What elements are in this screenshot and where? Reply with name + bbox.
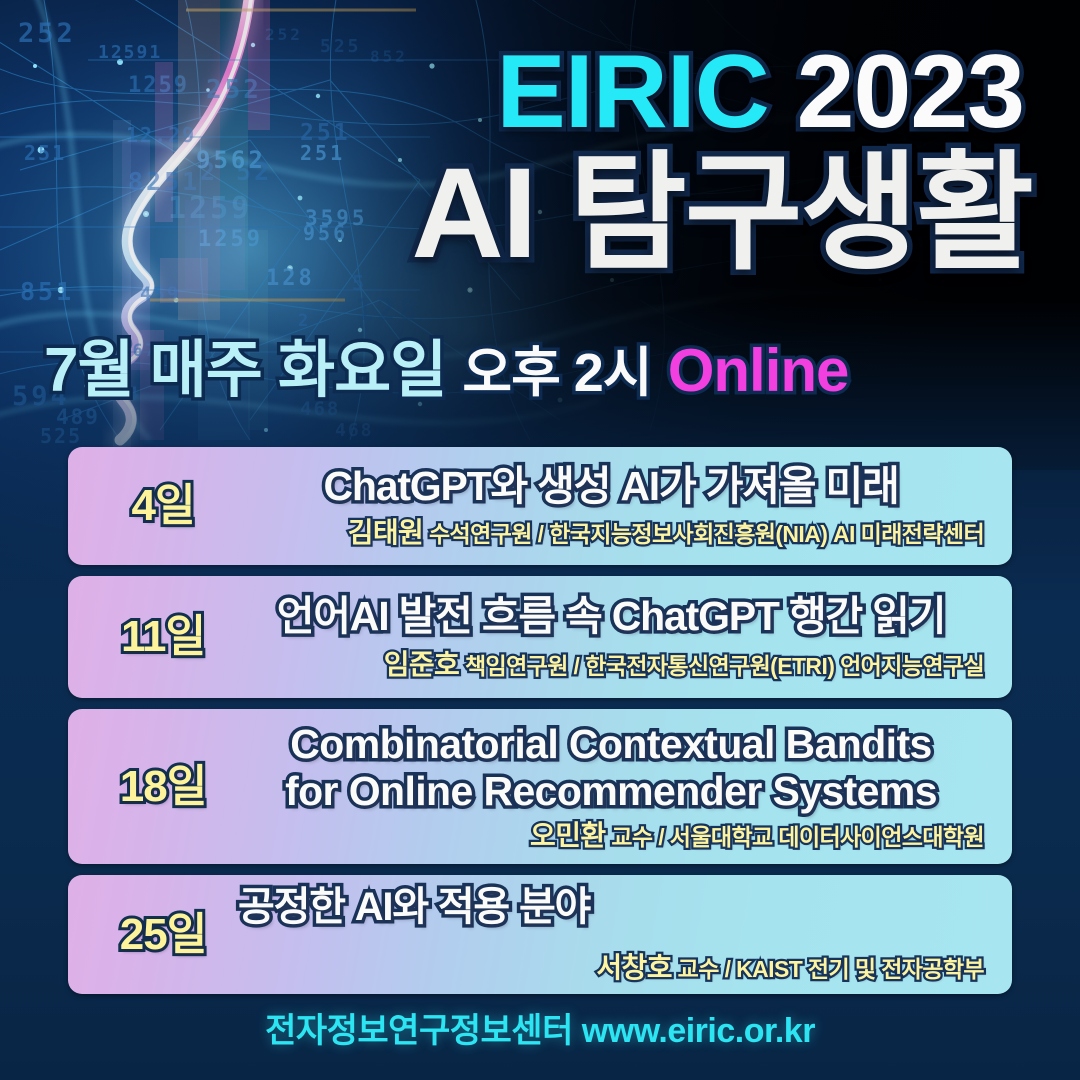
- brand-title: EIRIC 2023: [496, 40, 1024, 144]
- brand-title-year: 2023: [797, 34, 1024, 150]
- session-day-badge: 25일: [88, 913, 238, 957]
- session-title: Combinatorial Contextual Bandits for Onl…: [238, 721, 984, 814]
- session-title: ChatGPT와 생성 AI가 가져올 미래: [238, 463, 984, 510]
- session-title-line: 공정한 AI와 적용 분야: [238, 885, 984, 931]
- session-list: 4일 ChatGPT와 생성 AI가 가져올 미래 김태원 수석연구원 / 한국…: [68, 447, 1012, 1005]
- session-speaker-name: 서창호: [596, 952, 671, 983]
- session-title: 언어AI 발전 흐름 속 ChatGPT 행간 읽기: [238, 593, 984, 640]
- session-content: Combinatorial Contextual Bandits for Onl…: [238, 721, 988, 851]
- poster-root: 252 12591 1259 12.29 8251 252 2 52 251 8…: [0, 0, 1080, 1080]
- session-speaker-affiliation: 교수 / KAIST 전기 및 전자공학부: [678, 956, 984, 982]
- session-title-line: 언어AI 발전 흐름 속 ChatGPT 행간 읽기: [238, 593, 984, 640]
- session-title: 공정한 AI와 적용 분야: [238, 885, 984, 931]
- session-day-badge: 18일: [88, 765, 238, 809]
- session-speaker: 임준호 책임연구원 / 한국전자통신연구원(ETRI) 언어지능연구실: [238, 650, 984, 681]
- session-content: ChatGPT와 생성 AI가 가져올 미래 김태원 수석연구원 / 한국지능정…: [238, 463, 988, 549]
- footer-credit[interactable]: 전자정보연구정보센터 www.eiric.or.kr: [0, 1003, 1080, 1052]
- session-content: 언어AI 발전 흐름 속 ChatGPT 행간 읽기 임준호 책임연구원 / 한…: [238, 593, 988, 681]
- session-speaker-name: 임준호: [384, 649, 459, 680]
- schedule-line: 7월 매주 화요일 오후 2시 Online: [44, 340, 848, 402]
- session-speaker-affiliation: 교수 / 서울대학교 데이터사이언스대학원: [611, 824, 984, 850]
- session-speaker: 김태원 수석연구원 / 한국지능정보사회진흥원(NIA) AI 미래전략센터: [238, 518, 984, 549]
- schedule-month: 7월 매주 화요일: [44, 336, 446, 405]
- session-speaker: 오민환 교수 / 서울대학교 데이터사이언스대학원: [238, 821, 984, 852]
- schedule-mode: Online: [668, 337, 849, 404]
- session-title-line: for Online Recommender Systems: [238, 768, 984, 815]
- session-speaker-name: 오민환: [530, 820, 605, 851]
- page-title: AI 탐구생활: [411, 150, 1032, 278]
- session-day-badge: 11일: [88, 615, 238, 659]
- brand-title-eiric: EIRIC: [496, 34, 768, 150]
- session-card[interactable]: 11일 언어AI 발전 흐름 속 ChatGPT 행간 읽기 임준호 책임연구원…: [68, 576, 1012, 698]
- session-card[interactable]: 18일 Combinatorial Contextual Bandits for…: [68, 709, 1012, 864]
- session-speaker-affiliation: 책임연구원 / 한국전자통신연구원(ETRI) 언어지능연구실: [465, 653, 984, 679]
- session-card[interactable]: 25일 공정한 AI와 적용 분야 서창호 교수 / KAIST 전기 및 전자…: [68, 875, 1012, 994]
- session-day-badge: 4일: [88, 484, 238, 528]
- session-speaker-affiliation: 수석연구원 / 한국지능정보사회진흥원(NIA) AI 미래전략센터: [429, 521, 984, 547]
- session-title-line: Combinatorial Contextual Bandits: [238, 721, 984, 768]
- session-speaker-name: 김태원: [348, 517, 423, 548]
- schedule-time: 오후 2시: [462, 343, 651, 403]
- session-card[interactable]: 4일 ChatGPT와 생성 AI가 가져올 미래 김태원 수석연구원 / 한국…: [68, 447, 1012, 565]
- session-title-line: ChatGPT와 생성 AI가 가져올 미래: [238, 463, 984, 510]
- session-content: 공정한 AI와 적용 분야 서창호 교수 / KAIST 전기 및 전자공학부: [238, 885, 988, 983]
- session-speaker: 서창호 교수 / KAIST 전기 및 전자공학부: [238, 953, 984, 984]
